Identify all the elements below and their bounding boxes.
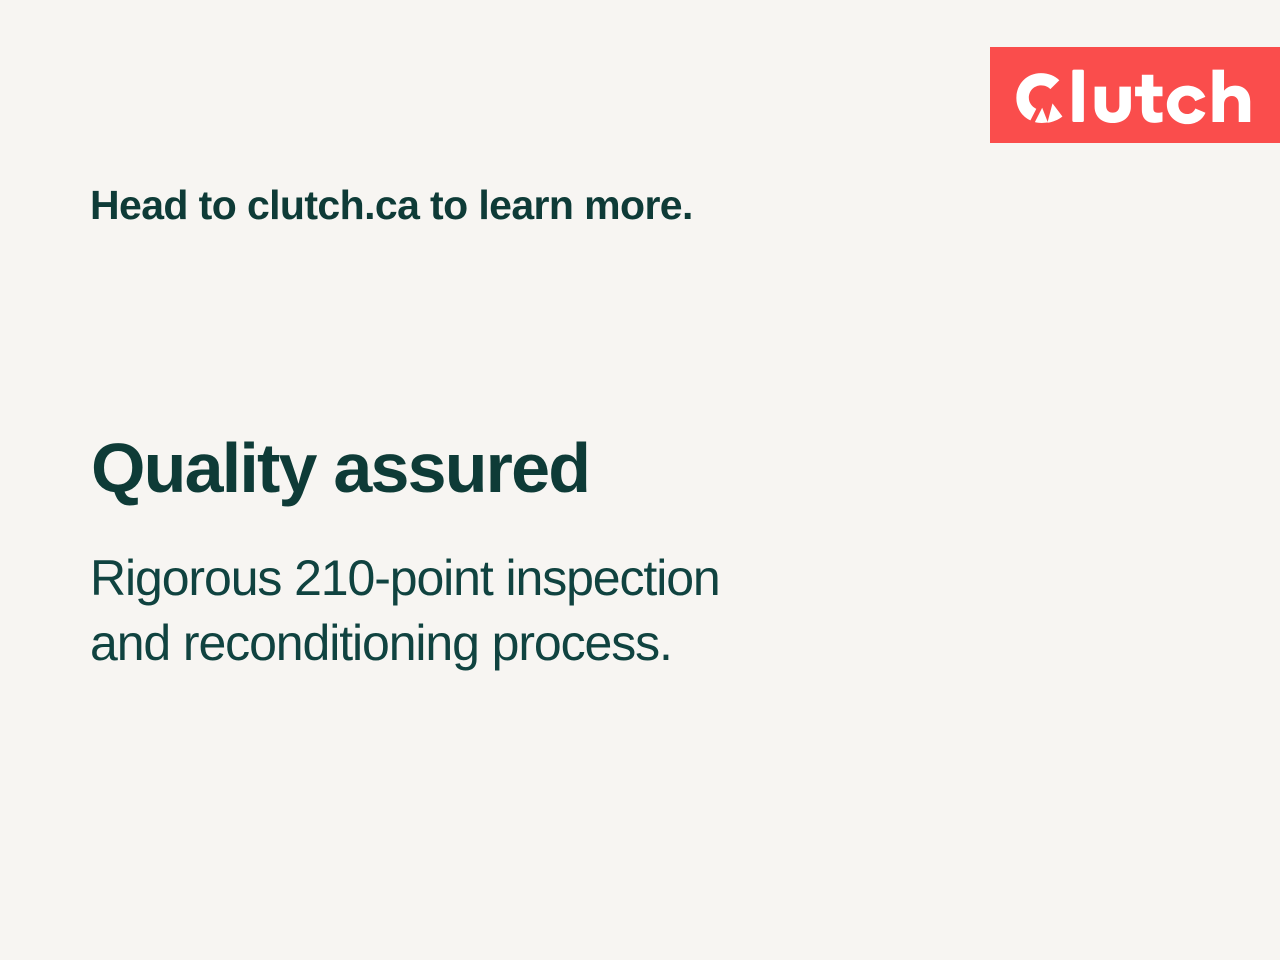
subcopy-line-2: and reconditioning process.	[90, 611, 720, 676]
clutch-wordmark-icon	[1012, 64, 1280, 126]
page-title: Quality assured	[91, 432, 589, 506]
clutch-logo-block: clutch	[990, 47, 1280, 143]
promo-slide: clutch Head to clutch.ca to learn more. …	[0, 0, 1280, 960]
subcopy-text: Rigorous 210-point inspection and recond…	[90, 546, 720, 676]
kicker-text: Head to clutch.ca to learn more.	[90, 181, 693, 229]
subcopy-line-1: Rigorous 210-point inspection	[90, 546, 720, 611]
